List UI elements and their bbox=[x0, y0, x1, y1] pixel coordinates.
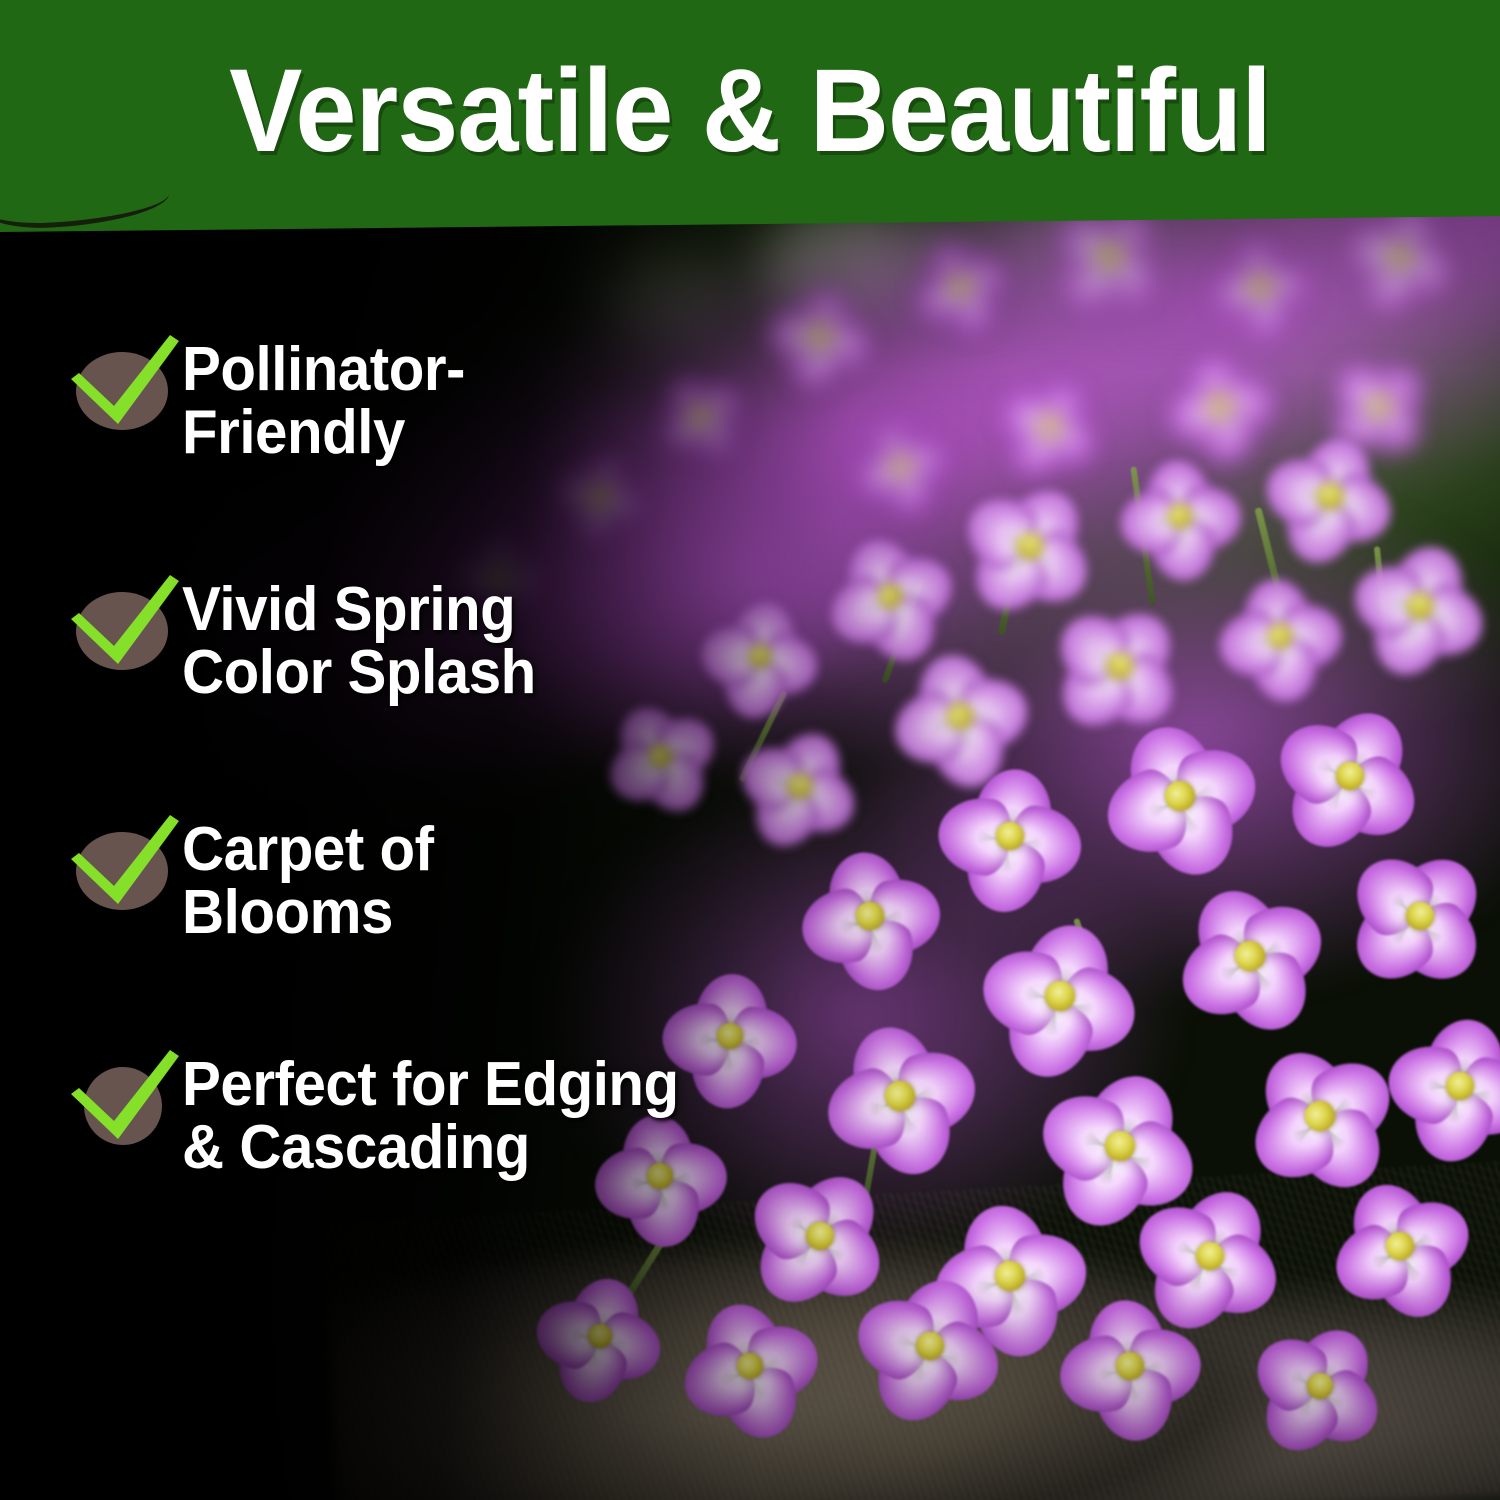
green-check-icon bbox=[66, 1047, 182, 1151]
check-badge bbox=[62, 1047, 182, 1155]
feature-label: Vivid Spring Color Splash bbox=[182, 572, 536, 704]
green-check-icon bbox=[66, 812, 182, 916]
feature-label: Perfect for Edging & Cascading bbox=[182, 1047, 679, 1179]
green-check-icon bbox=[66, 332, 182, 436]
product-feature-infographic: Versatile & Beautiful Pollinator- Friend… bbox=[0, 0, 1500, 1500]
feature-item-carpet-of-blooms[interactable]: Carpet of Blooms bbox=[62, 812, 450, 944]
feature-label: Carpet of Blooms bbox=[182, 812, 434, 944]
check-badge bbox=[62, 572, 182, 680]
feature-label: Pollinator- Friendly bbox=[182, 332, 465, 464]
feature-item-perfect-for-edging-cascading[interactable]: Perfect for Edging & Cascading bbox=[62, 1047, 710, 1179]
check-badge bbox=[62, 332, 182, 440]
feature-item-vivid-spring-color-splash[interactable]: Vivid Spring Color Splash bbox=[62, 572, 558, 704]
check-badge bbox=[62, 812, 182, 920]
page-title: Versatile & Beautiful bbox=[53, 52, 1448, 170]
green-check-icon bbox=[66, 572, 182, 676]
header-banner: Versatile & Beautiful bbox=[0, 0, 1500, 232]
feature-item-pollinator-friendly[interactable]: Pollinator- Friendly bbox=[62, 332, 483, 464]
